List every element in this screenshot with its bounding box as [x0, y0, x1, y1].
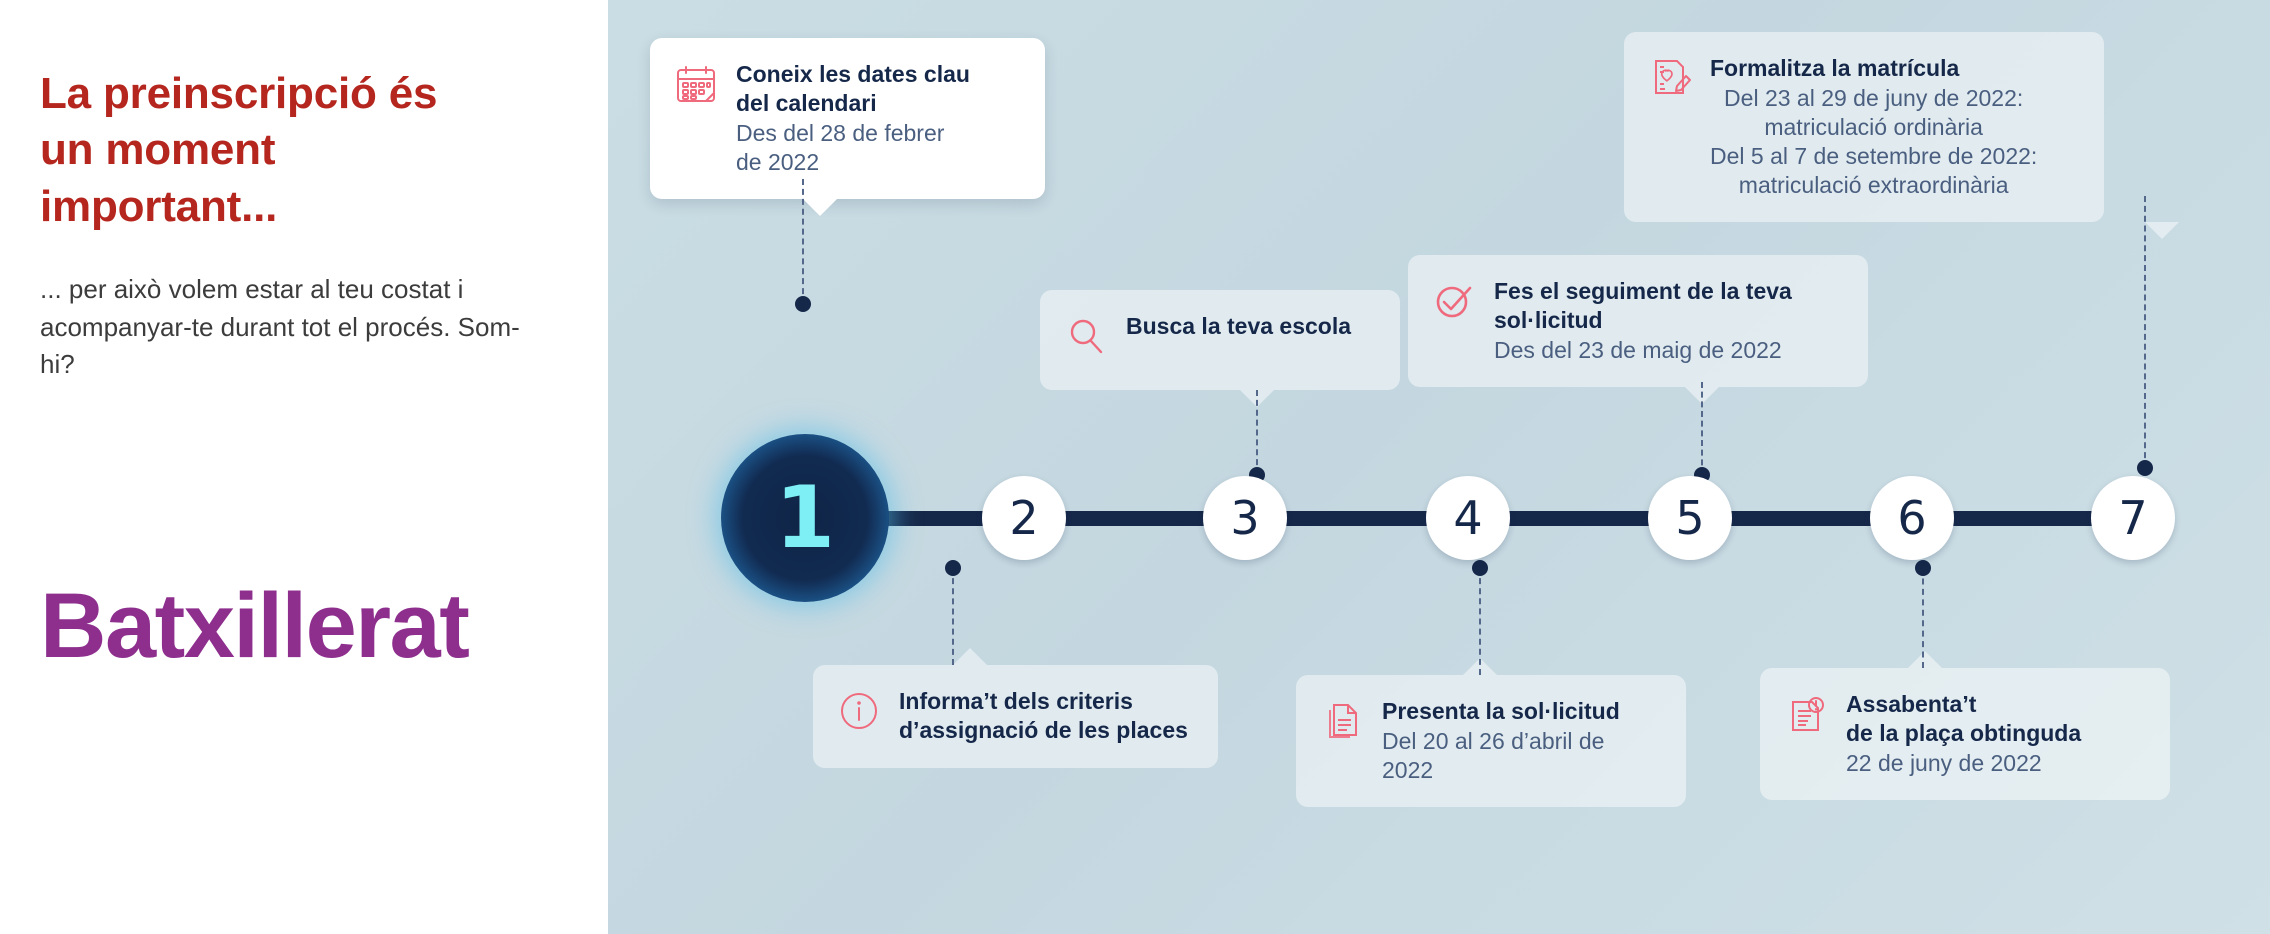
- brand-title: Batxillerat: [40, 580, 468, 672]
- check-circle-icon: [1432, 279, 1476, 323]
- step-card-5-subtitle: Des del 23 de maig de 2022: [1494, 336, 1792, 365]
- step-card-2-title: Informa’t dels criteris d’assignació de …: [899, 687, 1188, 745]
- timeline-node-5-number: 5: [1675, 491, 1704, 545]
- connector-dash: [952, 568, 954, 665]
- card-tail: [2145, 222, 2179, 239]
- step-card-4-title: Presenta la sol·licitud: [1382, 697, 1656, 726]
- timeline-node-6[interactable]: 6: [1870, 476, 1954, 560]
- step-card-7[interactable]: Formalitza la matrícula Del 23 al 29 de …: [1624, 32, 2104, 222]
- connector-4: [1479, 568, 1481, 675]
- step-card-5[interactable]: Fes el seguiment de la teva sol·licitud …: [1408, 255, 1868, 387]
- timeline-panel: Coneix les dates clau del calendari Des …: [608, 0, 2270, 934]
- step-card-3-title: Busca la teva escola: [1126, 312, 1351, 341]
- search-icon: [1064, 314, 1108, 358]
- step-card-2[interactable]: Informa’t dels criteris d’assignació de …: [813, 665, 1218, 768]
- connector-1: [802, 179, 804, 304]
- timeline-node-1-number: 1: [775, 468, 835, 568]
- connector-dash: [1256, 390, 1258, 475]
- step-card-5-title: Fes el seguiment de la teva sol·licitud: [1494, 277, 1792, 335]
- calendar-icon: [674, 62, 718, 106]
- connector-dash: [1479, 568, 1481, 675]
- connector-dot: [1472, 560, 1488, 576]
- connector-dot: [945, 560, 961, 576]
- step-card-1-title: Coneix les dates clau del calendari: [736, 60, 970, 118]
- step-card-1[interactable]: Coneix les dates clau del calendari Des …: [650, 38, 1045, 199]
- step-card-6-title: Assabenta’t de la plaça obtinguda: [1846, 690, 2081, 748]
- card-tail: [953, 648, 987, 665]
- connector-dash: [802, 179, 804, 304]
- timeline-node-7-number: 7: [2118, 491, 2147, 545]
- connector-dot: [2137, 460, 2153, 476]
- timeline-node-1[interactable]: 1: [721, 434, 889, 602]
- connector-7: [2144, 196, 2146, 468]
- step-card-7-title: Formalitza la matrícula: [1710, 54, 2037, 83]
- timeline-node-2[interactable]: 2: [982, 476, 1066, 560]
- timeline-node-3-number: 3: [1230, 491, 1259, 545]
- timeline-node-6-number: 6: [1897, 491, 1926, 545]
- step-card-1-subtitle: Des del 28 de febrer de 2022: [736, 119, 970, 177]
- connector-dot: [795, 296, 811, 312]
- timeline-node-2-number: 2: [1009, 491, 1038, 545]
- left-panel: La preinscripció és un moment important.…: [0, 0, 608, 934]
- card-tail: [1908, 651, 1942, 668]
- page-subtext: ... per això volem estar al teu costat i…: [40, 271, 550, 384]
- step-card-3[interactable]: Busca la teva escola: [1040, 290, 1400, 390]
- connector-dash: [1701, 382, 1703, 475]
- step-card-6[interactable]: Assabenta’t de la plaça obtinguda 22 de …: [1760, 668, 2170, 800]
- step-card-4-subtitle: Del 20 al 26 d’abril de 2022: [1382, 727, 1656, 785]
- document-alert-icon: [1784, 692, 1828, 736]
- page-headline: La preinscripció és un moment important.…: [40, 66, 500, 235]
- connector-3: [1256, 390, 1258, 475]
- timeline-node-5[interactable]: 5: [1648, 476, 1732, 560]
- timeline-node-4[interactable]: 4: [1426, 476, 1510, 560]
- connector-6: [1922, 568, 1924, 668]
- documents-icon: [1320, 699, 1364, 743]
- timeline-node-4-number: 4: [1453, 491, 1482, 545]
- step-card-4[interactable]: Presenta la sol·licitud Del 20 al 26 d’a…: [1296, 675, 1686, 807]
- step-card-7-subtitle: Del 23 al 29 de juny de 2022: matriculac…: [1710, 84, 2037, 200]
- connector-dash: [1922, 568, 1924, 668]
- step-card-6-subtitle: 22 de juny de 2022: [1846, 749, 2081, 778]
- connector-2: [952, 568, 954, 665]
- card-tail: [803, 199, 837, 216]
- form-pencil-icon: [1648, 56, 1692, 100]
- timeline-node-3[interactable]: 3: [1203, 476, 1287, 560]
- infographic-page: La preinscripció és un moment important.…: [0, 0, 2270, 934]
- timeline-node-7[interactable]: 7: [2091, 476, 2175, 560]
- info-circle-icon: [837, 689, 881, 733]
- connector-5: [1701, 382, 1703, 475]
- connector-dot: [1915, 560, 1931, 576]
- connector-dash: [2144, 196, 2146, 468]
